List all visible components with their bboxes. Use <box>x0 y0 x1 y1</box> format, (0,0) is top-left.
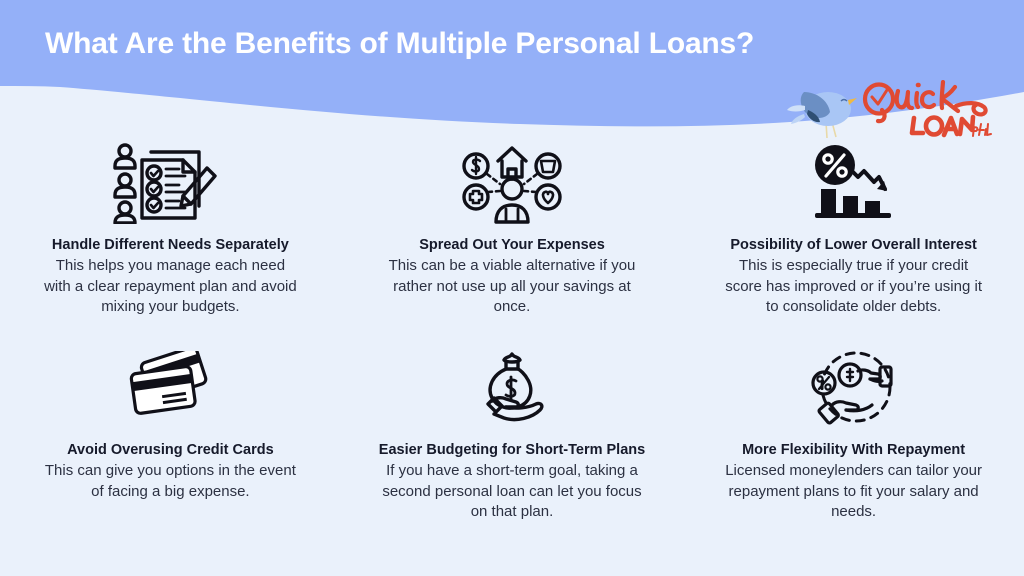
hand-money-bag-icon <box>470 345 554 431</box>
bird-logo-icon <box>786 82 864 140</box>
hands-percent-coin-icon <box>808 345 900 431</box>
benefit-card: Possibility of Lower Overall Interest Th… <box>683 140 1024 345</box>
page-title: What Are the Benefits of Multiple Person… <box>45 24 945 64</box>
infographic-page: What Are the Benefits of Multiple Person… <box>0 0 1024 576</box>
card-body: If you have a short-term goal, taking a … <box>382 461 642 523</box>
benefit-card: Avoid Overusing Credit Cards This can gi… <box>0 345 341 550</box>
benefit-card: Easier Budgeting for Short-Term Plans If… <box>341 345 683 550</box>
card-heading: More Flexibility With Repayment <box>742 441 965 460</box>
card-body: This can give you options in the event o… <box>40 461 300 502</box>
card-heading: Easier Budgeting for Short-Term Plans <box>379 441 645 460</box>
card-heading: Spread Out Your Expenses <box>419 236 605 255</box>
brand-wordmark <box>860 80 992 138</box>
card-heading: Handle Different Needs Separately <box>52 236 289 255</box>
card-body: This is especially true if your credit s… <box>724 256 984 318</box>
benefits-grid: Handle Different Needs Separately This h… <box>0 140 1024 540</box>
card-body: This helps you manage each need with a c… <box>40 256 300 318</box>
card-body: This can be a viable alternative if you … <box>382 256 642 318</box>
page-header: What Are the Benefits of Multiple Person… <box>0 0 1024 150</box>
card-heading: Possibility of Lower Overall Interest <box>730 236 977 255</box>
people-checklist-icon <box>111 140 229 226</box>
person-expenses-network-icon <box>462 140 562 226</box>
brand-logo[interactable] <box>786 80 991 142</box>
credit-cards-icon <box>123 345 217 431</box>
benefit-card: Handle Different Needs Separately This h… <box>0 140 341 345</box>
percent-declining-bars-icon <box>813 140 895 226</box>
card-body: Licensed moneylenders can tailor your re… <box>724 461 984 523</box>
card-heading: Avoid Overusing Credit Cards <box>67 441 274 460</box>
benefit-card: More Flexibility With Repayment Licensed… <box>683 345 1024 550</box>
benefit-card: Spread Out Your Expenses This can be a v… <box>341 140 683 345</box>
